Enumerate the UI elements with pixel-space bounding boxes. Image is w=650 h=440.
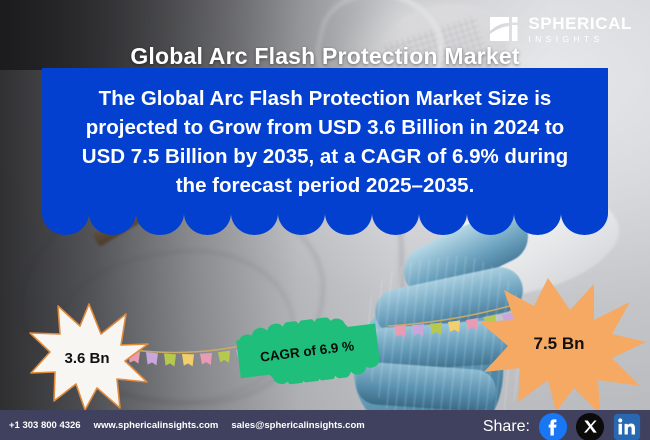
callout-end-value: 7.5 Bn — [478, 276, 648, 416]
scallop — [514, 213, 561, 235]
spherical-insights-mark-icon — [488, 14, 520, 44]
callout-start-value: 3.6 Bn — [28, 300, 150, 412]
brand-tagline: INSIGHTS — [528, 35, 632, 44]
scallop — [184, 213, 231, 235]
share-group: Share: — [483, 412, 642, 440]
scallop — [278, 213, 325, 235]
brand-logo-text: SPHERICAL INSIGHTS — [528, 15, 632, 44]
footer-website[interactable]: www.sphericalinsights.com — [94, 420, 219, 431]
footer-contact-group: +1 303 800 4326 www.sphericalinsights.co… — [0, 420, 365, 431]
facebook-icon[interactable] — [538, 412, 568, 440]
headline-banner-scallop-edge — [42, 213, 608, 235]
scallop — [136, 213, 183, 235]
share-label: Share: — [483, 418, 530, 436]
scallop — [325, 213, 372, 235]
scallop — [372, 213, 419, 235]
footer-email[interactable]: sales@sphericalinsights.com — [231, 420, 364, 431]
footer-phone[interactable]: +1 303 800 4326 — [9, 420, 81, 431]
callout-start-label: 3.6 Bn — [26, 302, 148, 414]
scallop — [467, 213, 514, 235]
scallop — [231, 213, 278, 235]
infographic-canvas: SPHERICAL INSIGHTS Global Arc Flash Prot… — [0, 0, 650, 440]
page-title: Global Arc Flash Protection Market — [0, 43, 650, 70]
brand-logo: SPHERICAL INSIGHTS — [488, 14, 632, 44]
scallop — [419, 213, 466, 235]
headline-text: The Global Arc Flash Protection Market S… — [64, 84, 586, 200]
headline-banner: The Global Arc Flash Protection Market S… — [42, 68, 608, 235]
scallop — [42, 213, 89, 235]
x-twitter-icon[interactable] — [575, 412, 605, 440]
scallop — [89, 213, 136, 235]
linkedin-icon[interactable] — [612, 412, 642, 440]
callout-end-label: 7.5 Bn — [474, 274, 644, 414]
scallop — [561, 213, 608, 235]
brand-name: SPHERICAL — [528, 15, 632, 32]
headline-banner-body: The Global Arc Flash Protection Market S… — [42, 68, 608, 214]
